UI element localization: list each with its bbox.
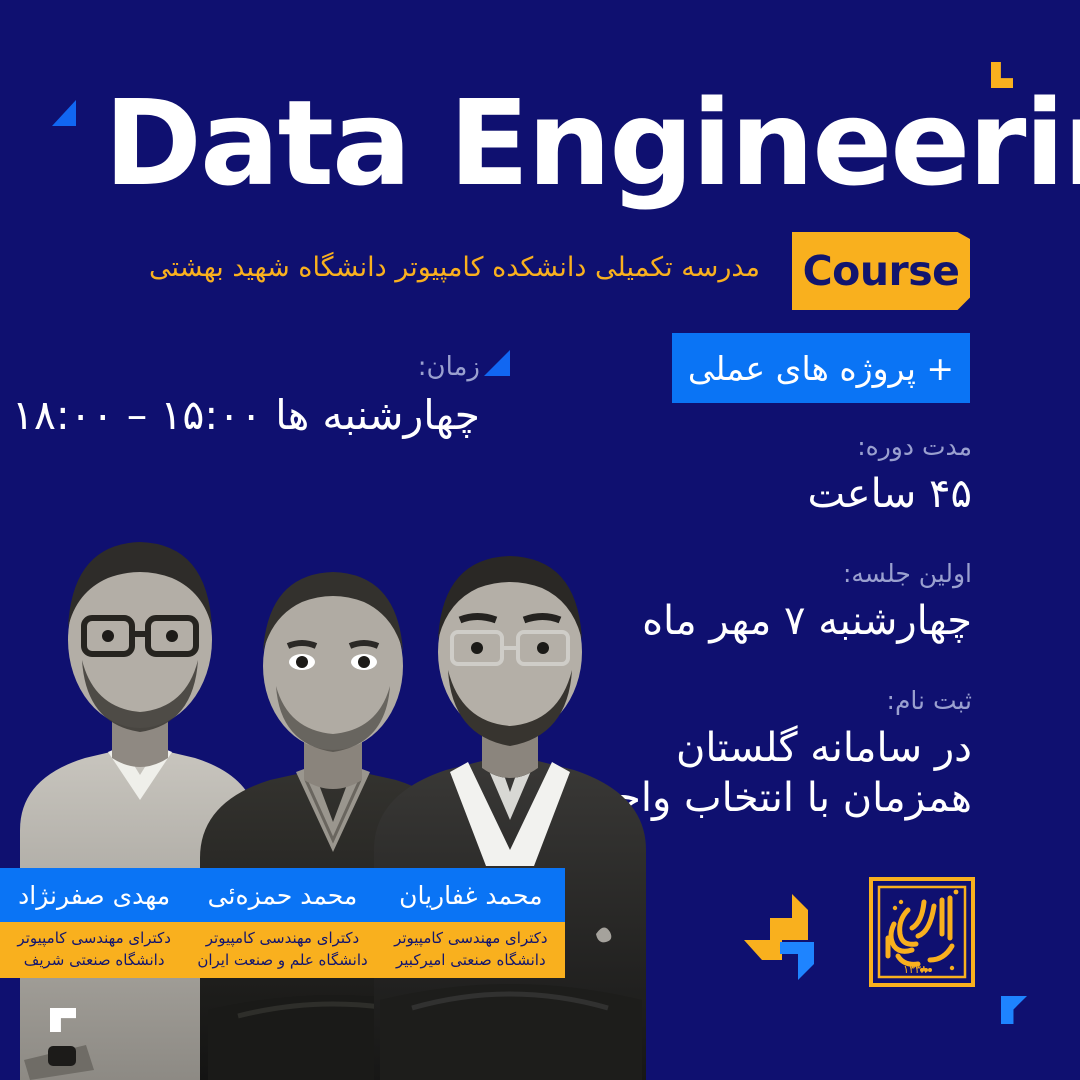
course-badge-label: Course <box>803 247 960 295</box>
course-badge: Course <box>792 232 970 310</box>
blue-arrow-corner-icon <box>1001 996 1027 1024</box>
instructor-name-bar: مهدی صفرنژاد محمد حمزه‌ئی محمد غفاریان <box>0 868 565 922</box>
practical-projects-label: + پروژه های عملی <box>688 349 954 388</box>
duration-label: مدت دوره: <box>552 432 972 461</box>
practical-projects-badge: + پروژه های عملی <box>672 333 970 403</box>
instructor-affiliation-2: دانشگاه علم و صنعت ایران <box>197 950 367 972</box>
blue-triangle-marker-icon <box>484 350 510 376</box>
instructor-degree-2: دکترای مهندسی کامپیوتر <box>206 928 360 950</box>
instructor-credential-3: دکترای مهندسی کامپیوتر دانشگاه صنعتی امی… <box>377 922 565 978</box>
instructor-credential-1: دکترای مهندسی کامپیوتر دانشگاه صنعتی شری… <box>0 922 188 978</box>
arrow-logo-icon <box>740 888 835 988</box>
page-subtitle: مدرسه تکمیلی دانشکده کامپیوتر دانشگاه شه… <box>149 252 760 284</box>
seal-year: ۱۳۳۸ <box>903 963 927 976</box>
instructor-degree-1: دکترای مهندسی کامپیوتر <box>17 928 171 950</box>
instructor-credential-2: دکترای مهندسی کامپیوتر دانشگاه علم و صنع… <box>188 922 376 978</box>
time-label: زمان: <box>12 352 480 382</box>
shahid-beheshti-university-seal-icon: ۱۳۳۸ <box>868 876 976 988</box>
instructor-name-2: محمد حمزه‌ئی <box>188 868 376 922</box>
instructor-affiliation-1: دانشگاه صنعتی شریف <box>24 950 165 972</box>
instructor-degree-3: دکترای مهندسی کامپیوتر <box>394 928 548 950</box>
page-title: Data Engineering <box>0 84 1000 202</box>
instructor-photo-1 <box>360 520 660 1080</box>
instructor-name-1: مهدی صفرنژاد <box>0 868 188 922</box>
instructor-credential-bar: دکترای مهندسی کامپیوتر دانشگاه صنعتی شری… <box>0 922 565 978</box>
instructor-name-3: محمد غفاریان <box>377 868 565 922</box>
time-info-block: زمان: چهارشنبه ها ۱۵:۰۰ – ۱۸:۰۰ <box>12 352 480 441</box>
poster-canvas: Data Engineering مدرسه تکمیلی دانشکده کا… <box>0 0 1080 1080</box>
instructor-photo-group <box>0 480 650 1080</box>
time-value: چهارشنبه ها ۱۵:۰۰ – ۱۸:۰۰ <box>12 390 480 441</box>
instructor-affiliation-3: دانشگاه صنعتی امیرکبیر <box>396 950 546 972</box>
